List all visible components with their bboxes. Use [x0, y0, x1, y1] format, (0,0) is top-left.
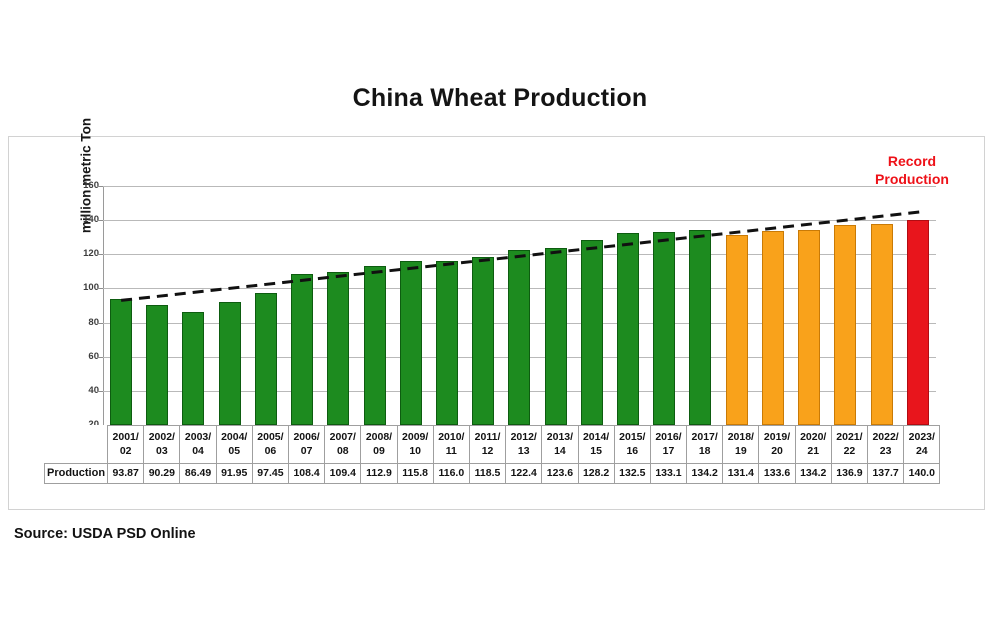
y-tick-label-60: 60	[65, 352, 99, 362]
y-tick-label-80: 80	[65, 318, 99, 328]
year-label-line: 23	[868, 445, 903, 459]
table-cell-production-value: 116.0	[433, 464, 469, 484]
record-production-annotation: Record Production	[852, 152, 972, 189]
table-cell-year: 2017/18	[687, 426, 723, 464]
table-cell-year: 2019/20	[759, 426, 795, 464]
year-label-line: 21	[796, 445, 831, 459]
year-label-line: 2018/	[723, 431, 758, 445]
table-cell-year: 2006/07	[289, 426, 325, 464]
year-label-line: 2019/	[759, 431, 794, 445]
year-label-line: 09	[361, 445, 396, 459]
table-cell-year: 2022/23	[868, 426, 904, 464]
table-cell-production-value: 132.5	[614, 464, 650, 484]
table-cell-production-value: 128.2	[578, 464, 614, 484]
table-cell-year: 2023/24	[904, 426, 940, 464]
year-label-line: 2009/	[398, 431, 433, 445]
year-label-line: 2014/	[579, 431, 614, 445]
table-cell-year: 2012/13	[506, 426, 542, 464]
table-cell-production-value: 115.8	[397, 464, 433, 484]
year-label-line: 2021/	[832, 431, 867, 445]
table-cell-production-value: 118.5	[469, 464, 505, 484]
y-tick-label-40: 40	[65, 386, 99, 396]
plot-area	[103, 186, 936, 425]
y-tick-label-160: 160	[65, 181, 99, 191]
record-annotation-line1: Record	[852, 152, 972, 170]
table-row-years: 2001/022002/032003/042004/052005/062006/…	[45, 426, 940, 464]
year-label-line: 08	[325, 445, 360, 459]
year-label-line: 2017/	[687, 431, 722, 445]
table-cell-production-value: 86.49	[180, 464, 216, 484]
year-label-line: 2016/	[651, 431, 686, 445]
year-label-line: 15	[579, 445, 614, 459]
data-table: 2001/022002/032003/042004/052005/062006/…	[44, 425, 940, 484]
year-label-line: 2013/	[542, 431, 577, 445]
table-cell-year: 2009/10	[397, 426, 433, 464]
table-cell-year: 2001/02	[108, 426, 144, 464]
year-label-line: 03	[144, 445, 179, 459]
year-label-line: 2008/	[361, 431, 396, 445]
table-row-production: Production 93.8790.2986.4991.9597.45108.…	[45, 464, 940, 484]
table-cell-year: 2020/21	[795, 426, 831, 464]
year-label-line: 02	[108, 445, 143, 459]
table-cell-year: 2016/17	[650, 426, 686, 464]
year-label-line: 2010/	[434, 431, 469, 445]
table-cell-year: 2007/08	[325, 426, 361, 464]
year-label-line: 2005/	[253, 431, 288, 445]
year-label-line: 2015/	[615, 431, 650, 445]
table-cell-production-value: 131.4	[723, 464, 759, 484]
table-cell-year: 2014/15	[578, 426, 614, 464]
table-cell-production-value: 123.6	[542, 464, 578, 484]
trendline	[103, 186, 936, 425]
year-label-line: 2003/	[180, 431, 215, 445]
year-label-line: 2004/	[217, 431, 252, 445]
table-cell-production-value: 134.2	[795, 464, 831, 484]
table-cell-year: 2018/19	[723, 426, 759, 464]
table-cell-production-value: 97.45	[252, 464, 288, 484]
table-cell-production-value: 137.7	[868, 464, 904, 484]
source-note: Source: USDA PSD Online	[14, 526, 196, 542]
year-label-line: 2012/	[506, 431, 541, 445]
year-label-line: 11	[434, 445, 469, 459]
y-tick-label-120: 120	[65, 249, 99, 259]
page-title: China Wheat Production	[0, 84, 1000, 113]
year-label-line: 2011/	[470, 431, 505, 445]
year-label-line: 17	[651, 445, 686, 459]
y-axis-tick-labels: 20406080100120140160	[59, 186, 99, 425]
year-label-line: 2022/	[868, 431, 903, 445]
year-label-line: 12	[470, 445, 505, 459]
table-cell-production-value: 122.4	[506, 464, 542, 484]
table-cell-year: 2010/11	[433, 426, 469, 464]
table-row-header-production: Production	[45, 464, 108, 484]
table-cell-production-value: 133.6	[759, 464, 795, 484]
table-cell-production-value: 133.1	[650, 464, 686, 484]
year-label-line: 24	[904, 445, 939, 459]
table-cell-production-value: 112.9	[361, 464, 397, 484]
table-corner-cell	[45, 426, 108, 464]
table-cell-production-value: 136.9	[831, 464, 867, 484]
year-label-line: 13	[506, 445, 541, 459]
table-cell-year: 2004/05	[216, 426, 252, 464]
year-label-line: 10	[398, 445, 433, 459]
year-label-line: 06	[253, 445, 288, 459]
year-label-line: 2023/	[904, 431, 939, 445]
table-cell-production-value: 93.87	[108, 464, 144, 484]
table-cell-production-value: 91.95	[216, 464, 252, 484]
table-cell-production-value: 140.0	[904, 464, 940, 484]
table-cell-year: 2011/12	[469, 426, 505, 464]
year-label-line: 18	[687, 445, 722, 459]
year-label-line: 19	[723, 445, 758, 459]
year-label-line: 22	[832, 445, 867, 459]
table-cell-year: 2021/22	[831, 426, 867, 464]
table-cell-year: 2015/16	[614, 426, 650, 464]
table-cell-year: 2005/06	[252, 426, 288, 464]
year-label-line: 2020/	[796, 431, 831, 445]
year-label-line: 05	[217, 445, 252, 459]
year-label-line: 2007/	[325, 431, 360, 445]
year-label-line: 14	[542, 445, 577, 459]
year-label-line: 20	[759, 445, 794, 459]
year-label-line: 16	[615, 445, 650, 459]
table-cell-year: 2003/04	[180, 426, 216, 464]
year-label-line: 04	[180, 445, 215, 459]
table-cell-production-value: 109.4	[325, 464, 361, 484]
table-cell-year: 2008/09	[361, 426, 397, 464]
table-cell-year: 2013/14	[542, 426, 578, 464]
table-cell-production-value: 134.2	[687, 464, 723, 484]
table-cell-production-value: 90.29	[144, 464, 180, 484]
y-tick-label-100: 100	[65, 283, 99, 293]
record-annotation-line2: Production	[852, 170, 972, 188]
year-label-line: 2002/	[144, 431, 179, 445]
y-tick-label-140: 140	[65, 215, 99, 225]
year-label-line: 2001/	[108, 431, 143, 445]
table-cell-year: 2002/03	[144, 426, 180, 464]
year-label-line: 07	[289, 445, 324, 459]
table-cell-production-value: 108.4	[289, 464, 325, 484]
year-label-line: 2006/	[289, 431, 324, 445]
